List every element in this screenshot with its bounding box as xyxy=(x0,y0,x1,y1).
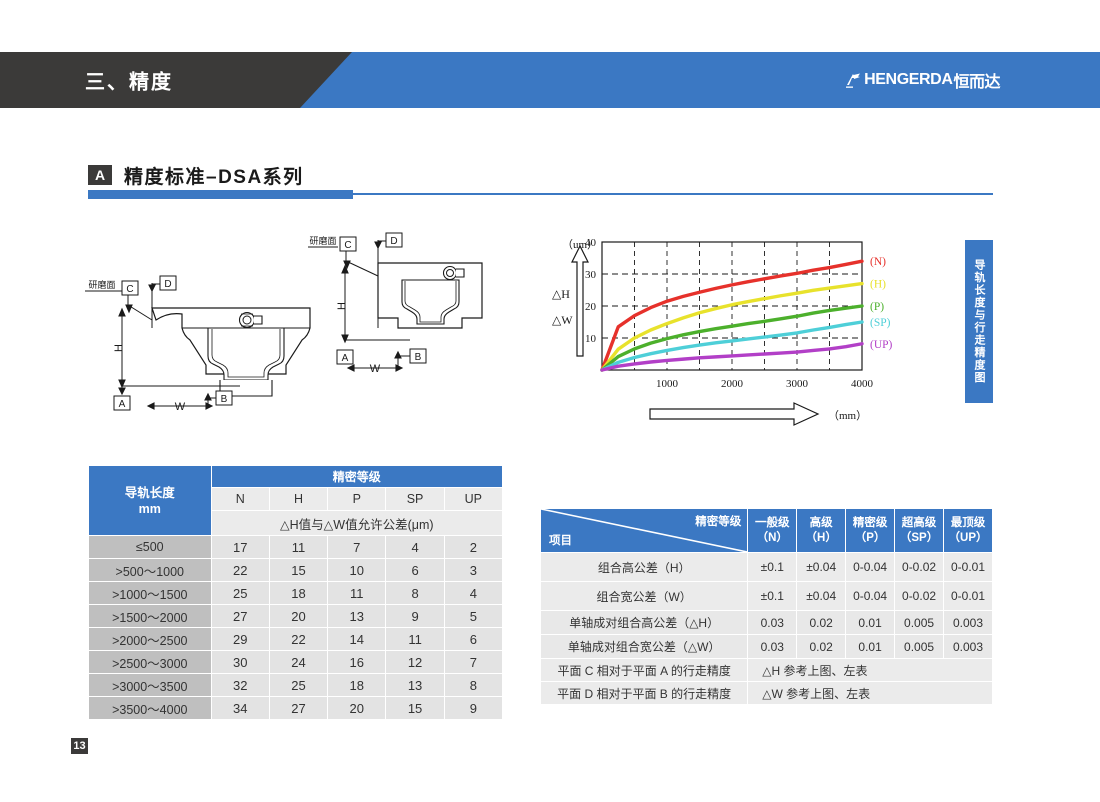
tolerance-value-cell: 27 xyxy=(269,697,327,720)
grade-col-sp: 超高级 （SP） xyxy=(895,509,944,553)
tolerance-value-cell: 18 xyxy=(328,674,386,697)
row-label-item: 组合宽公差（W） xyxy=(541,582,748,611)
grade-up-line2: （UP） xyxy=(944,531,992,546)
svg-text:W: W xyxy=(370,363,381,375)
tolerance-value-cell: ±0.04 xyxy=(797,553,846,582)
section-underline-thin xyxy=(353,193,993,195)
tolerance-value-cell: 22 xyxy=(211,559,269,582)
rail-length-tolerance-table: 导轨长度 mm 精密等级 NHPSPUP △H值与△W值允许公差(μm) ≤50… xyxy=(88,465,503,720)
tolerance-value-cell: 20 xyxy=(269,605,327,628)
table-row: 单轴成对组合宽公差（△W）0.030.020.010.0050.003 xyxy=(541,635,993,659)
svg-text:H: H xyxy=(113,344,125,352)
tolerance-value-cell: 0.01 xyxy=(846,611,895,635)
row-label-running-accuracy: 平面 D 相对于平面 B 的行走精度 xyxy=(541,682,748,705)
logo-text-cn: 恒而达 xyxy=(953,68,1000,92)
tolerance-value-cell: 7 xyxy=(444,651,502,674)
tolerance-value-cell: 0.01 xyxy=(846,635,895,659)
table-row: >3500～4000342720159 xyxy=(89,697,503,720)
y-tick-label: 30 xyxy=(585,269,597,281)
row-label-length-range: >2000～2500 xyxy=(89,628,212,651)
tolerance-value-cell: 2 xyxy=(444,536,502,559)
row-label-length-range: >1000～1500 xyxy=(89,582,212,605)
table-body: 组合高公差（H）±0.1±0.040-0.040-0.020-0.01组合宽公差… xyxy=(541,553,993,705)
tolerance-value-cell: 17 xyxy=(211,536,269,559)
tolerance-value-cell: 11 xyxy=(328,582,386,605)
tolerance-value-cell: 0.003 xyxy=(944,611,993,635)
legend-h: (H) xyxy=(870,279,886,291)
tolerance-value-cell: 0.03 xyxy=(748,635,797,659)
table-row: >1500～200027201395 xyxy=(89,605,503,628)
tolerance-value-cell: 0.005 xyxy=(895,635,944,659)
tolerance-value-cell: 8 xyxy=(444,674,502,697)
header-title: 三、精度 xyxy=(85,66,173,95)
tolerance-value-cell: 24 xyxy=(269,651,327,674)
tolerance-value-cell: 16 xyxy=(328,651,386,674)
svg-text:B: B xyxy=(415,352,422,363)
grade-sp-line2: （SP） xyxy=(895,531,943,546)
tolerance-value-cell: 0-0.01 xyxy=(944,553,993,582)
tolerance-value-cell: 6 xyxy=(386,559,444,582)
row-label-length-range: >500～1000 xyxy=(89,559,212,582)
chart-x-unit: （mm） xyxy=(828,409,867,422)
x-axis-arrow-icon xyxy=(650,403,818,425)
grade-n-line1: 一般级 xyxy=(748,516,796,531)
legend-n: (N) xyxy=(870,256,886,268)
tolerance-value-cell: 9 xyxy=(444,697,502,720)
tolerance-value-cell: 13 xyxy=(386,674,444,697)
grade-col-n: N xyxy=(211,488,269,511)
tolerance-value-cell: 34 xyxy=(211,697,269,720)
grade-col-h: 高级 （H） xyxy=(797,509,846,553)
company-logo: HENGERDA 恒而达 xyxy=(845,68,1000,92)
svg-text:D: D xyxy=(164,279,171,290)
tolerance-value-cell: 29 xyxy=(211,628,269,651)
table-row: 平面 C 相对于平面 A 的行走精度△H 参考上图、左表 xyxy=(541,659,993,682)
svg-text:C: C xyxy=(126,284,133,295)
page-header: 三、精度 HENGERDA 恒而达 xyxy=(0,52,1100,108)
row-label-length-range: >3500～4000 xyxy=(89,697,212,720)
tolerance-value-cell: 0.005 xyxy=(895,611,944,635)
row-label-length-range: >3000～3500 xyxy=(89,674,212,697)
table-row: 组合高公差（H）±0.1±0.040-0.040-0.020-0.01 xyxy=(541,553,993,582)
section-underline-thick xyxy=(88,190,353,199)
svg-text:A: A xyxy=(342,353,349,364)
tolerance-value-cell: 13 xyxy=(328,605,386,628)
table-row: 导轨长度 mm 精密等级 xyxy=(89,466,503,488)
tolerance-value-cell: 15 xyxy=(269,559,327,582)
row-label-item: 单轴成对组合高公差（△H） xyxy=(541,611,748,635)
grade-col-p: P xyxy=(328,488,386,511)
precision-chart: 1000200030004000 10203040 (N)(H)(P)(SP)(… xyxy=(532,228,962,458)
tolerance-value-cell: 0-0.04 xyxy=(846,582,895,611)
tolerance-value-cell: ±0.1 xyxy=(748,582,797,611)
svg-text:D: D xyxy=(390,236,397,247)
tolerance-value-cell: 4 xyxy=(444,582,502,605)
logo-mark-icon xyxy=(845,72,862,89)
legend-p: (P) xyxy=(870,301,884,313)
svg-text:A: A xyxy=(119,399,126,410)
table-row: >3000～3500322518138 xyxy=(89,674,503,697)
delta-h-symbol: △H xyxy=(552,287,570,301)
technical-drawing: C 研磨面 D H A W B xyxy=(80,228,520,433)
tolerance-value-cell: ±0.04 xyxy=(797,582,846,611)
tolerance-value-cell: 9 xyxy=(386,605,444,628)
tolerance-value-cell: 12 xyxy=(386,651,444,674)
col-head-line2: mm xyxy=(89,501,211,517)
row-label-item: 单轴成对组合宽公差（△W） xyxy=(541,635,748,659)
table-row: 单轴成对组合高公差（△H）0.030.020.010.0050.003 xyxy=(541,611,993,635)
table-row: ≤5001711742 xyxy=(89,536,503,559)
tolerance-value-cell: 0.02 xyxy=(797,635,846,659)
tolerance-value-cell: 0.02 xyxy=(797,611,846,635)
tolerance-value-cell: 15 xyxy=(386,697,444,720)
running-accuracy-reference: △H 参考上图、左表 xyxy=(748,659,993,682)
tolerance-value-cell: 4 xyxy=(386,536,444,559)
tolerance-value-cell: 5 xyxy=(444,605,502,628)
row-label-length-range: >1500～2000 xyxy=(89,605,212,628)
legend-sp: (SP) xyxy=(870,317,891,329)
tolerance-value-cell: 11 xyxy=(386,628,444,651)
grade-sp-line1: 超高级 xyxy=(895,516,943,531)
x-tick-label: 4000 xyxy=(851,378,874,390)
x-tick-label: 3000 xyxy=(786,378,809,390)
grade-n-line2: （N） xyxy=(748,531,796,546)
logo-text: HENGERDA xyxy=(864,71,952,89)
tolerance-value-cell: 0-0.02 xyxy=(895,553,944,582)
chart-side-label: 导轨长度与行走精度图 xyxy=(965,240,993,403)
tolerance-value-cell: 10 xyxy=(328,559,386,582)
tolerance-value-cell: 3 xyxy=(444,559,502,582)
tolerance-value-cell: 0.003 xyxy=(944,635,993,659)
grade-p-line2: （P） xyxy=(846,531,894,546)
tolerance-value-cell: ±0.1 xyxy=(748,553,797,582)
tolerance-value-cell: 0-0.04 xyxy=(846,553,895,582)
tolerance-value-cell: 14 xyxy=(328,628,386,651)
combined-tolerance-table: 精密等级 项目 一般级 （N） 高级 （H） 精密级 （P） 超高级 （SP） … xyxy=(540,508,993,705)
chart-legend: (N)(H)(P)(SP)(UP) xyxy=(870,256,893,351)
corner-bottom-label: 项目 xyxy=(549,532,572,548)
tolerance-value-cell: 0-0.02 xyxy=(895,582,944,611)
tolerance-value-cell: 30 xyxy=(211,651,269,674)
tolerance-value-cell: 22 xyxy=(269,628,327,651)
legend-up: (UP) xyxy=(870,339,893,351)
table-row: 平面 D 相对于平面 B 的行走精度△W 参考上图、左表 xyxy=(541,682,993,705)
delta-w-symbol: △W xyxy=(552,313,573,327)
grade-col-p: 精密级 （P） xyxy=(846,509,895,553)
table-row: 精密等级 项目 一般级 （N） 高级 （H） 精密级 （P） 超高级 （SP） … xyxy=(541,509,993,553)
grade-col-sp: SP xyxy=(386,488,444,511)
chart-x-ticks: 1000200030004000 xyxy=(656,378,874,390)
svg-text:W: W xyxy=(175,401,186,413)
tolerance-value-cell: 25 xyxy=(269,674,327,697)
tolerance-note: △H值与△W值允许公差(μm) xyxy=(211,511,502,536)
tolerance-value-cell: 0.03 xyxy=(748,611,797,635)
grade-up-line1: 最顶级 xyxy=(944,516,992,531)
tolerance-value-cell: 6 xyxy=(444,628,502,651)
grade-col-up: UP xyxy=(444,488,502,511)
page-number: 13 xyxy=(71,738,88,754)
row-label-running-accuracy: 平面 C 相对于平面 A 的行走精度 xyxy=(541,659,748,682)
row-label-item: 组合高公差（H） xyxy=(541,553,748,582)
running-accuracy-reference: △W 参考上图、左表 xyxy=(748,682,993,705)
x-tick-label: 1000 xyxy=(656,378,679,390)
row-label-length-range: >2500～3000 xyxy=(89,651,212,674)
tolerance-value-cell: 18 xyxy=(269,582,327,605)
table-body: ≤5001711742>500～100022151063>1000～150025… xyxy=(89,536,503,720)
y-tick-label: 10 xyxy=(585,333,597,345)
grade-col-h: H xyxy=(269,488,327,511)
section-badge: A xyxy=(88,165,112,185)
grade-h-line2: （H） xyxy=(797,531,845,546)
svg-text:C: C xyxy=(344,240,351,251)
svg-text:H: H xyxy=(336,302,348,310)
svg-text:研磨面: 研磨面 xyxy=(88,280,115,290)
col-head-line1: 导轨长度 xyxy=(89,485,211,501)
grade-p-line1: 精密级 xyxy=(846,516,894,531)
row-label-length-range: ≤500 xyxy=(89,536,212,559)
col-head-grade: 精密等级 xyxy=(211,466,502,488)
section-title: 精度标准–DSA系列 xyxy=(124,162,304,189)
tolerance-value-cell: 11 xyxy=(269,536,327,559)
tolerance-value-cell: 32 xyxy=(211,674,269,697)
table-row: 组合宽公差（W）±0.1±0.040-0.040-0.020-0.01 xyxy=(541,582,993,611)
y-tick-label: 20 xyxy=(585,301,597,313)
tolerance-value-cell: 0-0.01 xyxy=(944,582,993,611)
tolerance-value-cell: 8 xyxy=(386,582,444,605)
svg-text:研磨面: 研磨面 xyxy=(309,236,336,246)
grade-h-line1: 高级 xyxy=(797,516,845,531)
tolerance-value-cell: 20 xyxy=(328,697,386,720)
svg-text:B: B xyxy=(221,394,228,405)
corner-header-cell: 精密等级 项目 xyxy=(541,509,748,553)
tolerance-value-cell: 27 xyxy=(211,605,269,628)
grade-col-n: 一般级 （N） xyxy=(748,509,797,553)
grade-col-up: 最顶级 （UP） xyxy=(944,509,993,553)
table-row: >2500～3000302416127 xyxy=(89,651,503,674)
tolerance-value-cell: 7 xyxy=(328,536,386,559)
table-row: >500～100022151063 xyxy=(89,559,503,582)
x-tick-label: 2000 xyxy=(721,378,744,390)
table-row: >1000～150025181184 xyxy=(89,582,503,605)
tolerance-value-cell: 25 xyxy=(211,582,269,605)
table-row: >2000～2500292214116 xyxy=(89,628,503,651)
col-head-rail-length: 导轨长度 mm xyxy=(89,466,212,536)
corner-top-label: 精密等级 xyxy=(695,513,741,529)
